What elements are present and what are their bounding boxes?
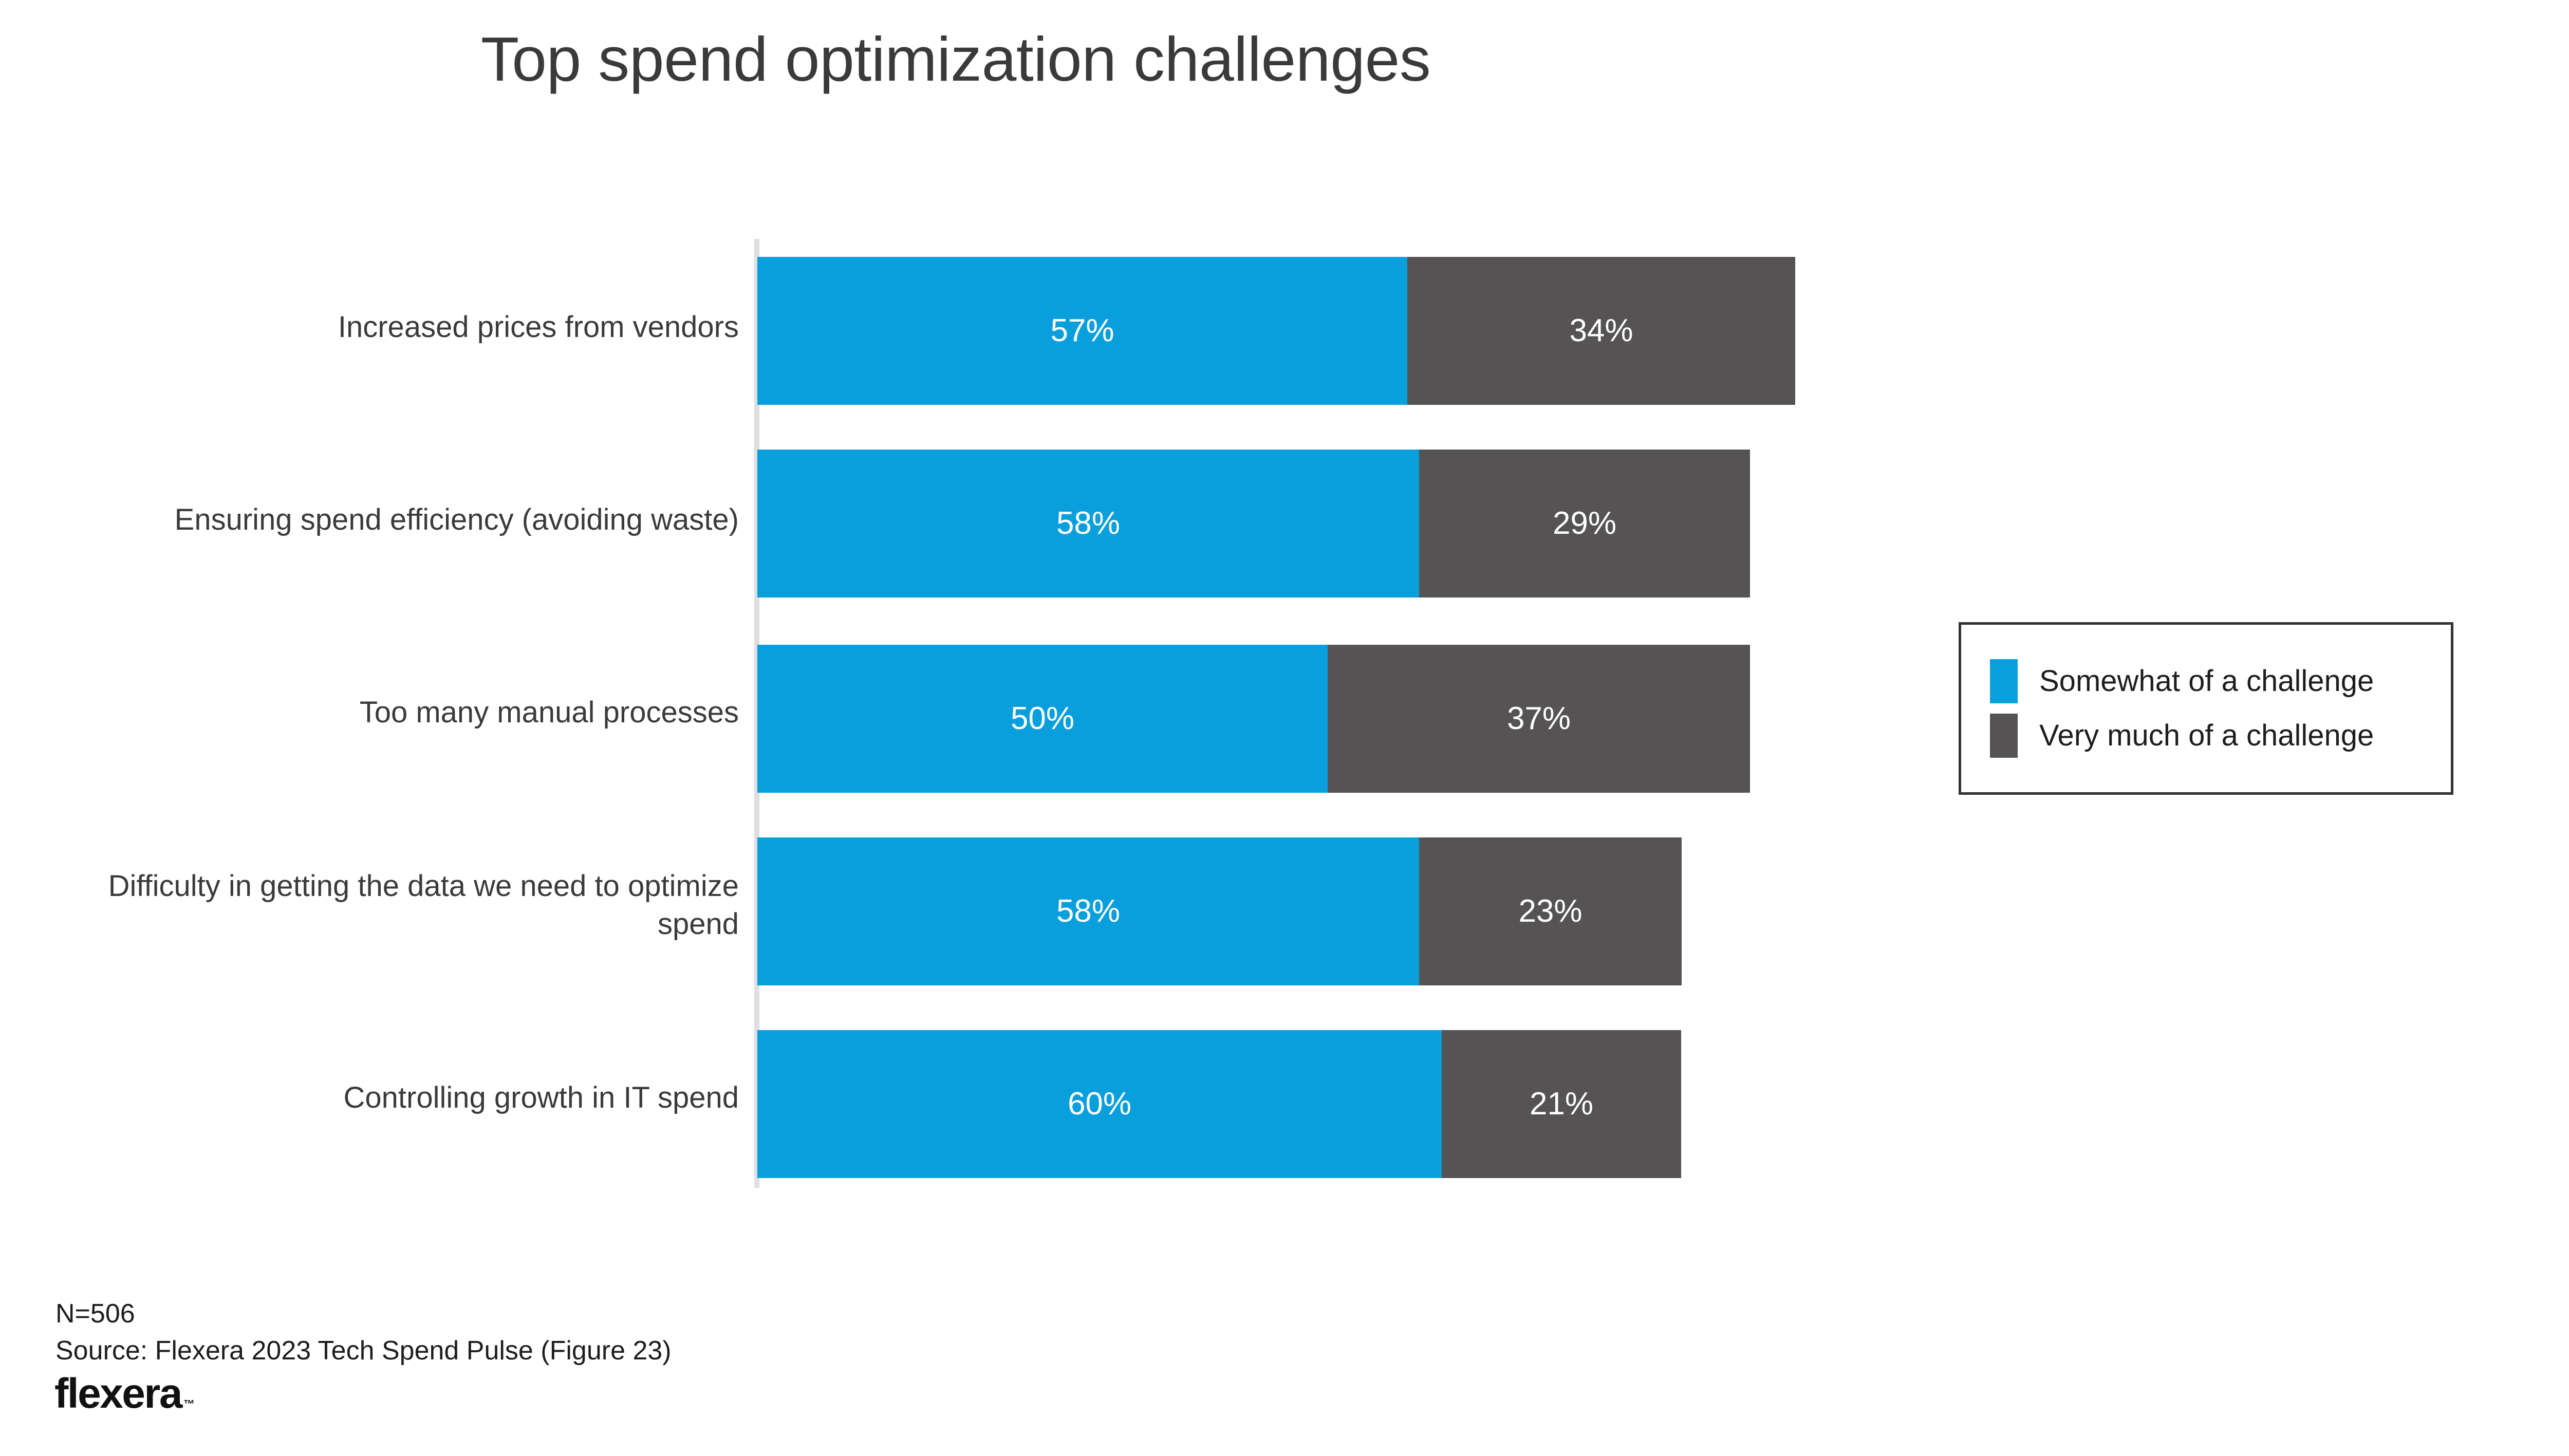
bar-value-label: 60% — [1068, 1088, 1131, 1120]
legend-item-very-much-of-a-challenge[interactable]: Very much of a challenge — [1990, 714, 2451, 758]
bar-segment-very-much[interactable]: 23% — [1419, 837, 1682, 985]
bar-value-label: 50% — [1011, 703, 1074, 735]
plot-area: 57% 34% 58% 29% 50% 37% — [757, 239, 1990, 1189]
bar-value-label: 23% — [1518, 895, 1582, 927]
footnotes: N=506 Source: Flexera 2023 Tech Spend Pu… — [55, 1296, 672, 1370]
bar-segment-somewhat[interactable]: 57% — [757, 257, 1407, 405]
sample-size-note: N=506 — [55, 1296, 672, 1333]
legend-item-label: Very much of a challenge — [2039, 721, 2374, 751]
bar-value-label: 21% — [1530, 1088, 1593, 1120]
bar-segment-very-much[interactable]: 34% — [1407, 257, 1795, 405]
legend-item-somewhat-of-a-challenge[interactable]: Somewhat of a challenge — [1990, 659, 2451, 703]
bar-row: 57% 34% — [757, 257, 1990, 405]
bar-value-label: 58% — [1056, 895, 1120, 927]
category-label-difficulty-getting-data: Difficulty in getting the data we need t… — [71, 867, 739, 943]
bar-segment-very-much[interactable]: 21% — [1442, 1030, 1681, 1178]
bar-row: 60% 21% — [757, 1030, 1990, 1178]
bar-segment-very-much[interactable]: 37% — [1328, 645, 1750, 793]
bar-segment-somewhat[interactable]: 50% — [757, 645, 1328, 793]
flexera-logo: flexera™ — [54, 1373, 195, 1415]
bar-value-label: 57% — [1050, 315, 1114, 347]
bar-segment-somewhat[interactable]: 58% — [757, 837, 1419, 985]
bar-segment-somewhat[interactable]: 60% — [757, 1030, 1442, 1178]
chart-page: Top spend optimization challenges Increa… — [0, 0, 2569, 1456]
bar-value-label: 37% — [1507, 703, 1571, 735]
bar-value-label: 34% — [1569, 315, 1633, 347]
bar-segment-very-much[interactable]: 29% — [1419, 450, 1750, 598]
bar-row: 50% 37% — [757, 645, 1990, 793]
category-label-ensuring-spend-efficiency: Ensuring spend efficiency (avoiding wast… — [71, 501, 739, 539]
trademark-symbol: ™ — [183, 1397, 195, 1410]
category-label-too-many-manual-processes: Too many manual processes — [71, 694, 739, 732]
legend: Somewhat of a challenge Very much of a c… — [1959, 622, 2453, 795]
category-label-controlling-growth-it-spend: Controlling growth in IT spend — [71, 1079, 739, 1117]
bar-value-label: 58% — [1056, 508, 1120, 539]
page-title: Top spend optimization challenges — [0, 25, 1911, 94]
bar-value-label: 29% — [1553, 508, 1616, 539]
source-note: Source: Flexera 2023 Tech Spend Pulse (F… — [55, 1333, 672, 1370]
brand-name: flexera — [54, 1370, 181, 1417]
bar-row: 58% 29% — [757, 450, 1990, 598]
legend-item-label: Somewhat of a challenge — [2039, 666, 2374, 696]
category-label-increased-prices-from-vendors: Increased prices from vendors — [71, 308, 739, 346]
bar-row: 58% 23% — [757, 837, 1990, 985]
bar-segment-somewhat[interactable]: 58% — [757, 450, 1419, 598]
legend-swatch-icon — [1990, 714, 2018, 758]
legend-swatch-icon — [1990, 659, 2018, 703]
